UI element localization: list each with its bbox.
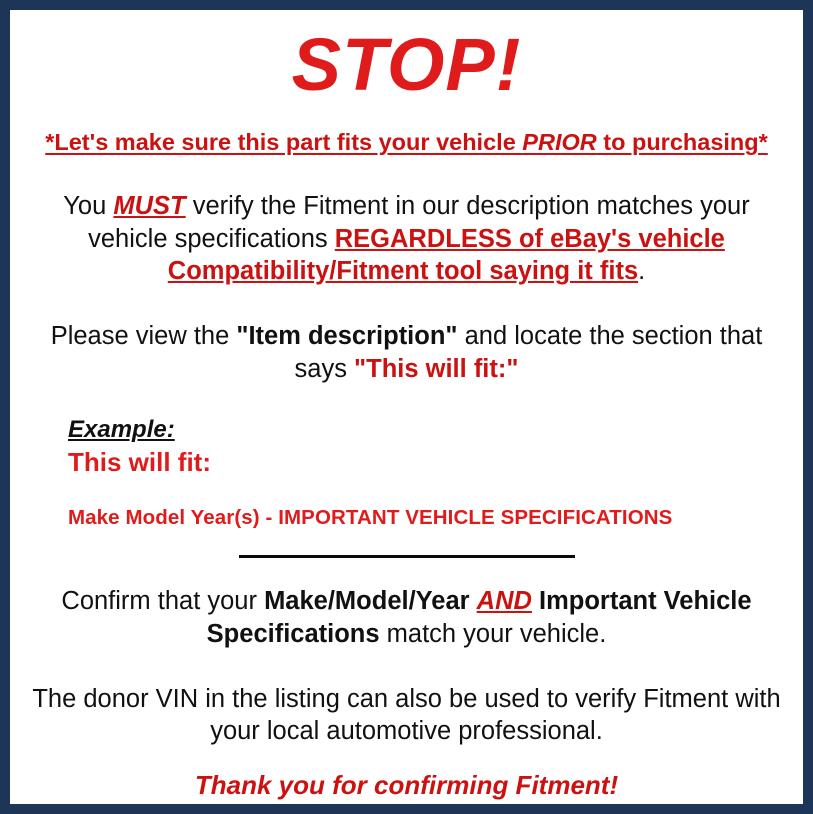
subtitle-prior-emphasis: PRIOR: [522, 129, 596, 155]
must-paragraph-part1: You: [63, 192, 113, 220]
must-verify-paragraph: You MUST verify the Fitment in our descr…: [24, 156, 789, 288]
donor-vin-paragraph: The donor VIN in the listing can also be…: [24, 651, 789, 748]
closing-thanks: Thank you for confirming Fitment!: [24, 748, 789, 801]
fitment-notice-card: STOP! *Let's make sure this part fits yo…: [0, 0, 813, 814]
must-paragraph-part3: .: [638, 257, 645, 285]
page-title: STOP!: [24, 10, 789, 102]
example-block: Example: This will fit: Make Model Year(…: [24, 385, 789, 530]
subtitle-tail-text: to purchasing*: [597, 129, 768, 155]
must-emphasis: MUST: [113, 192, 185, 220]
example-label: Example:: [68, 415, 175, 444]
example-label-row: Example:: [68, 415, 789, 444]
confirm-part1: Confirm that your: [61, 587, 264, 615]
and-emphasis: AND: [477, 587, 532, 615]
subtitle-banner: *Let's make sure this part fits your veh…: [24, 102, 789, 156]
item-description-paragraph: Please view the "Item description" and l…: [24, 288, 789, 385]
section-divider: [239, 555, 575, 558]
description-part1: Please view the: [51, 322, 237, 350]
example-fit-header: This will fit:: [68, 445, 789, 478]
make-model-year-emphasis: Make/Model/Year: [264, 587, 470, 615]
item-description-emphasis: "Item description": [236, 322, 457, 350]
confirm-paragraph: Confirm that your Make/Model/Year AND Im…: [24, 558, 789, 650]
example-spec-line: Make Model Year(s) - IMPORTANT VEHICLE S…: [68, 478, 789, 531]
this-will-fit-emphasis: "This will fit:": [354, 355, 518, 383]
section-divider-row: [24, 530, 789, 558]
confirm-part2: match your vehicle.: [380, 620, 607, 648]
notice-content: STOP! *Let's make sure this part fits yo…: [10, 10, 803, 804]
subtitle-lead-text: *Let's make sure this part fits your veh…: [45, 129, 522, 155]
